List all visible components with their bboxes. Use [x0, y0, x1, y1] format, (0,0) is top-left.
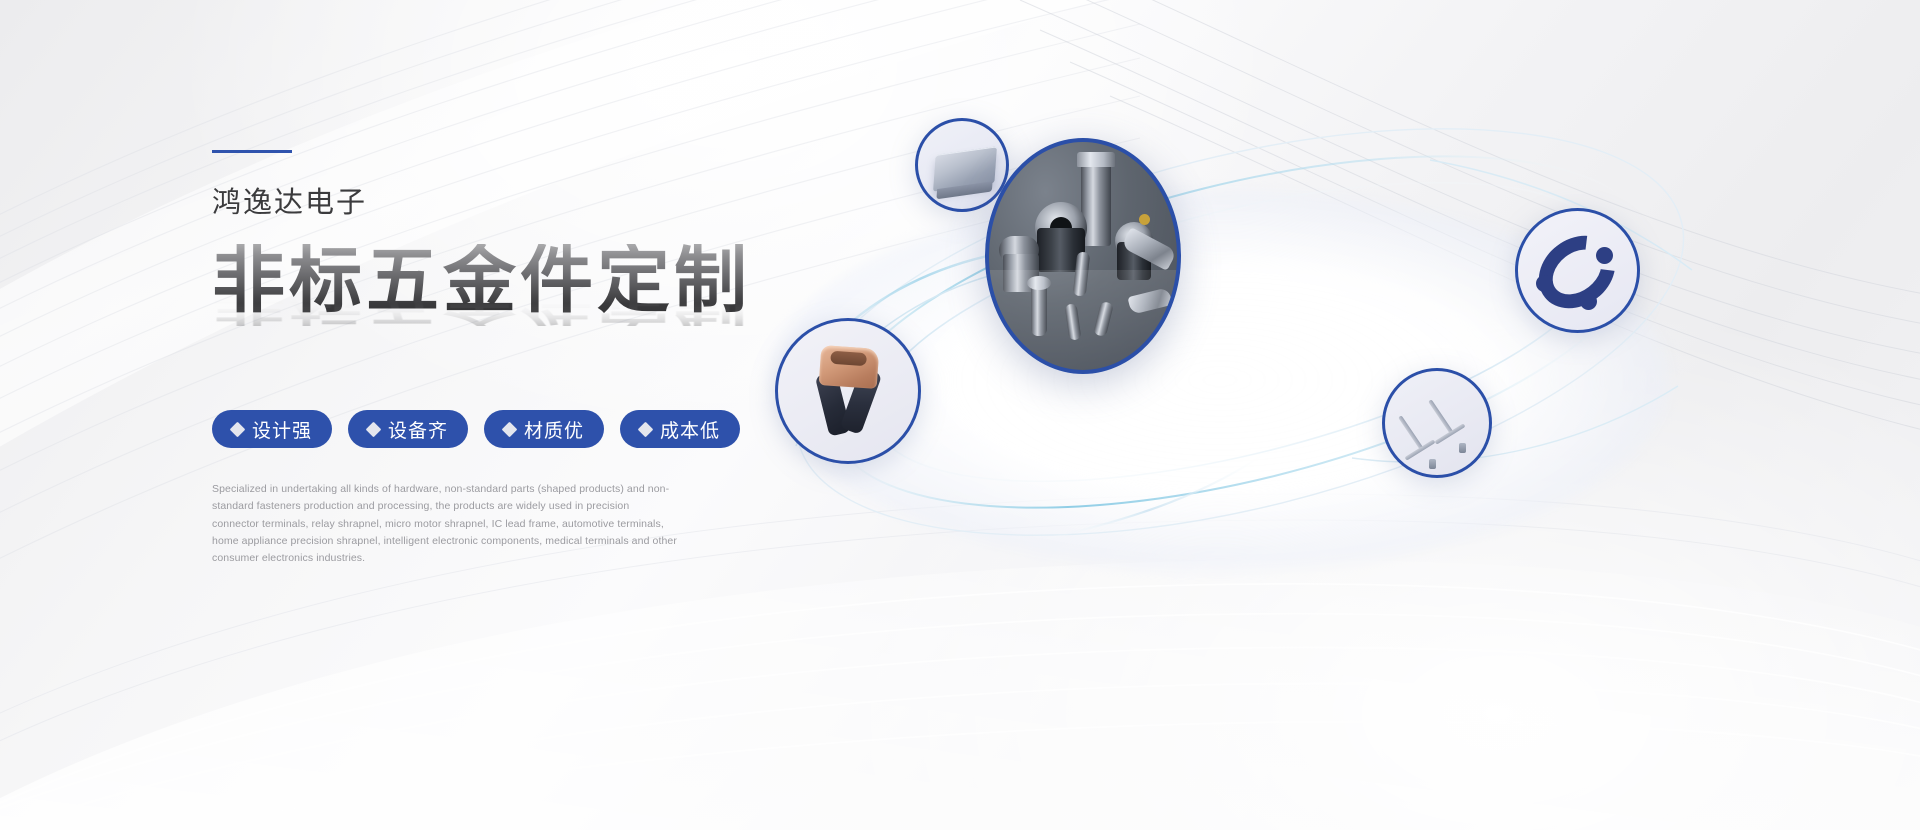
hero-text-block: 鸿逸达电子 非标五金件定制 非标五金件定制 设计强 设备齐 材质优 成本低 [212, 150, 832, 568]
retaining-clip-lug [1536, 275, 1553, 292]
bent-terminal-node[interactable] [1382, 368, 1492, 478]
headline-reflection: 非标五金件定制 [212, 288, 751, 326]
feature-tag-label: 设备齐 [388, 416, 448, 443]
headline-wrapper: 非标五金件定制 非标五金件定制 [212, 244, 832, 372]
feature-tag-label: 材质优 [524, 416, 584, 443]
hardware-collection-node[interactable] [985, 138, 1181, 374]
feature-tag-cost[interactable]: 成本低 [620, 410, 740, 448]
description-paragraph: Specialized in undertaking all kinds of … [212, 481, 677, 568]
terminal-pin-tip [1429, 459, 1436, 469]
feature-tag-design[interactable]: 设计强 [212, 410, 332, 448]
metal-enclosure-part [933, 146, 997, 191]
brand-name: 鸿逸达电子 [212, 189, 832, 218]
battery-clamp-node[interactable] [775, 318, 921, 464]
retaining-clip-lug [1580, 293, 1597, 310]
terminal-pin [1428, 399, 1454, 434]
diamond-icon [366, 421, 382, 437]
retaining-clip-node[interactable] [1515, 208, 1640, 333]
surface-reflection [989, 270, 1177, 370]
terminal-pin [1398, 415, 1424, 450]
feature-tag-label: 成本低 [660, 416, 720, 443]
diamond-icon [638, 421, 654, 437]
hardware-part [1139, 214, 1150, 225]
clamp-jaw [819, 345, 880, 389]
feature-tag-equipment[interactable]: 设备齐 [348, 410, 468, 448]
retaining-clip-lug [1596, 247, 1613, 264]
hero-banner: 鸿逸达电子 非标五金件定制 非标五金件定制 设计强 设备齐 材质优 成本低 [0, 0, 1920, 830]
diamond-icon [230, 421, 246, 437]
hardware-part [1077, 152, 1115, 167]
metal-enclosure-node[interactable] [915, 118, 1009, 212]
accent-rule [212, 150, 292, 153]
retaining-clip-body [1524, 221, 1629, 323]
feature-tag-label: 设计强 [252, 416, 312, 443]
product-showcase [740, 120, 1760, 590]
feature-tag-material[interactable]: 材质优 [484, 410, 604, 448]
terminal-pin-tip [1459, 443, 1466, 453]
feature-tag-list: 设计强 设备齐 材质优 成本低 [212, 410, 832, 448]
diamond-icon [502, 421, 518, 437]
